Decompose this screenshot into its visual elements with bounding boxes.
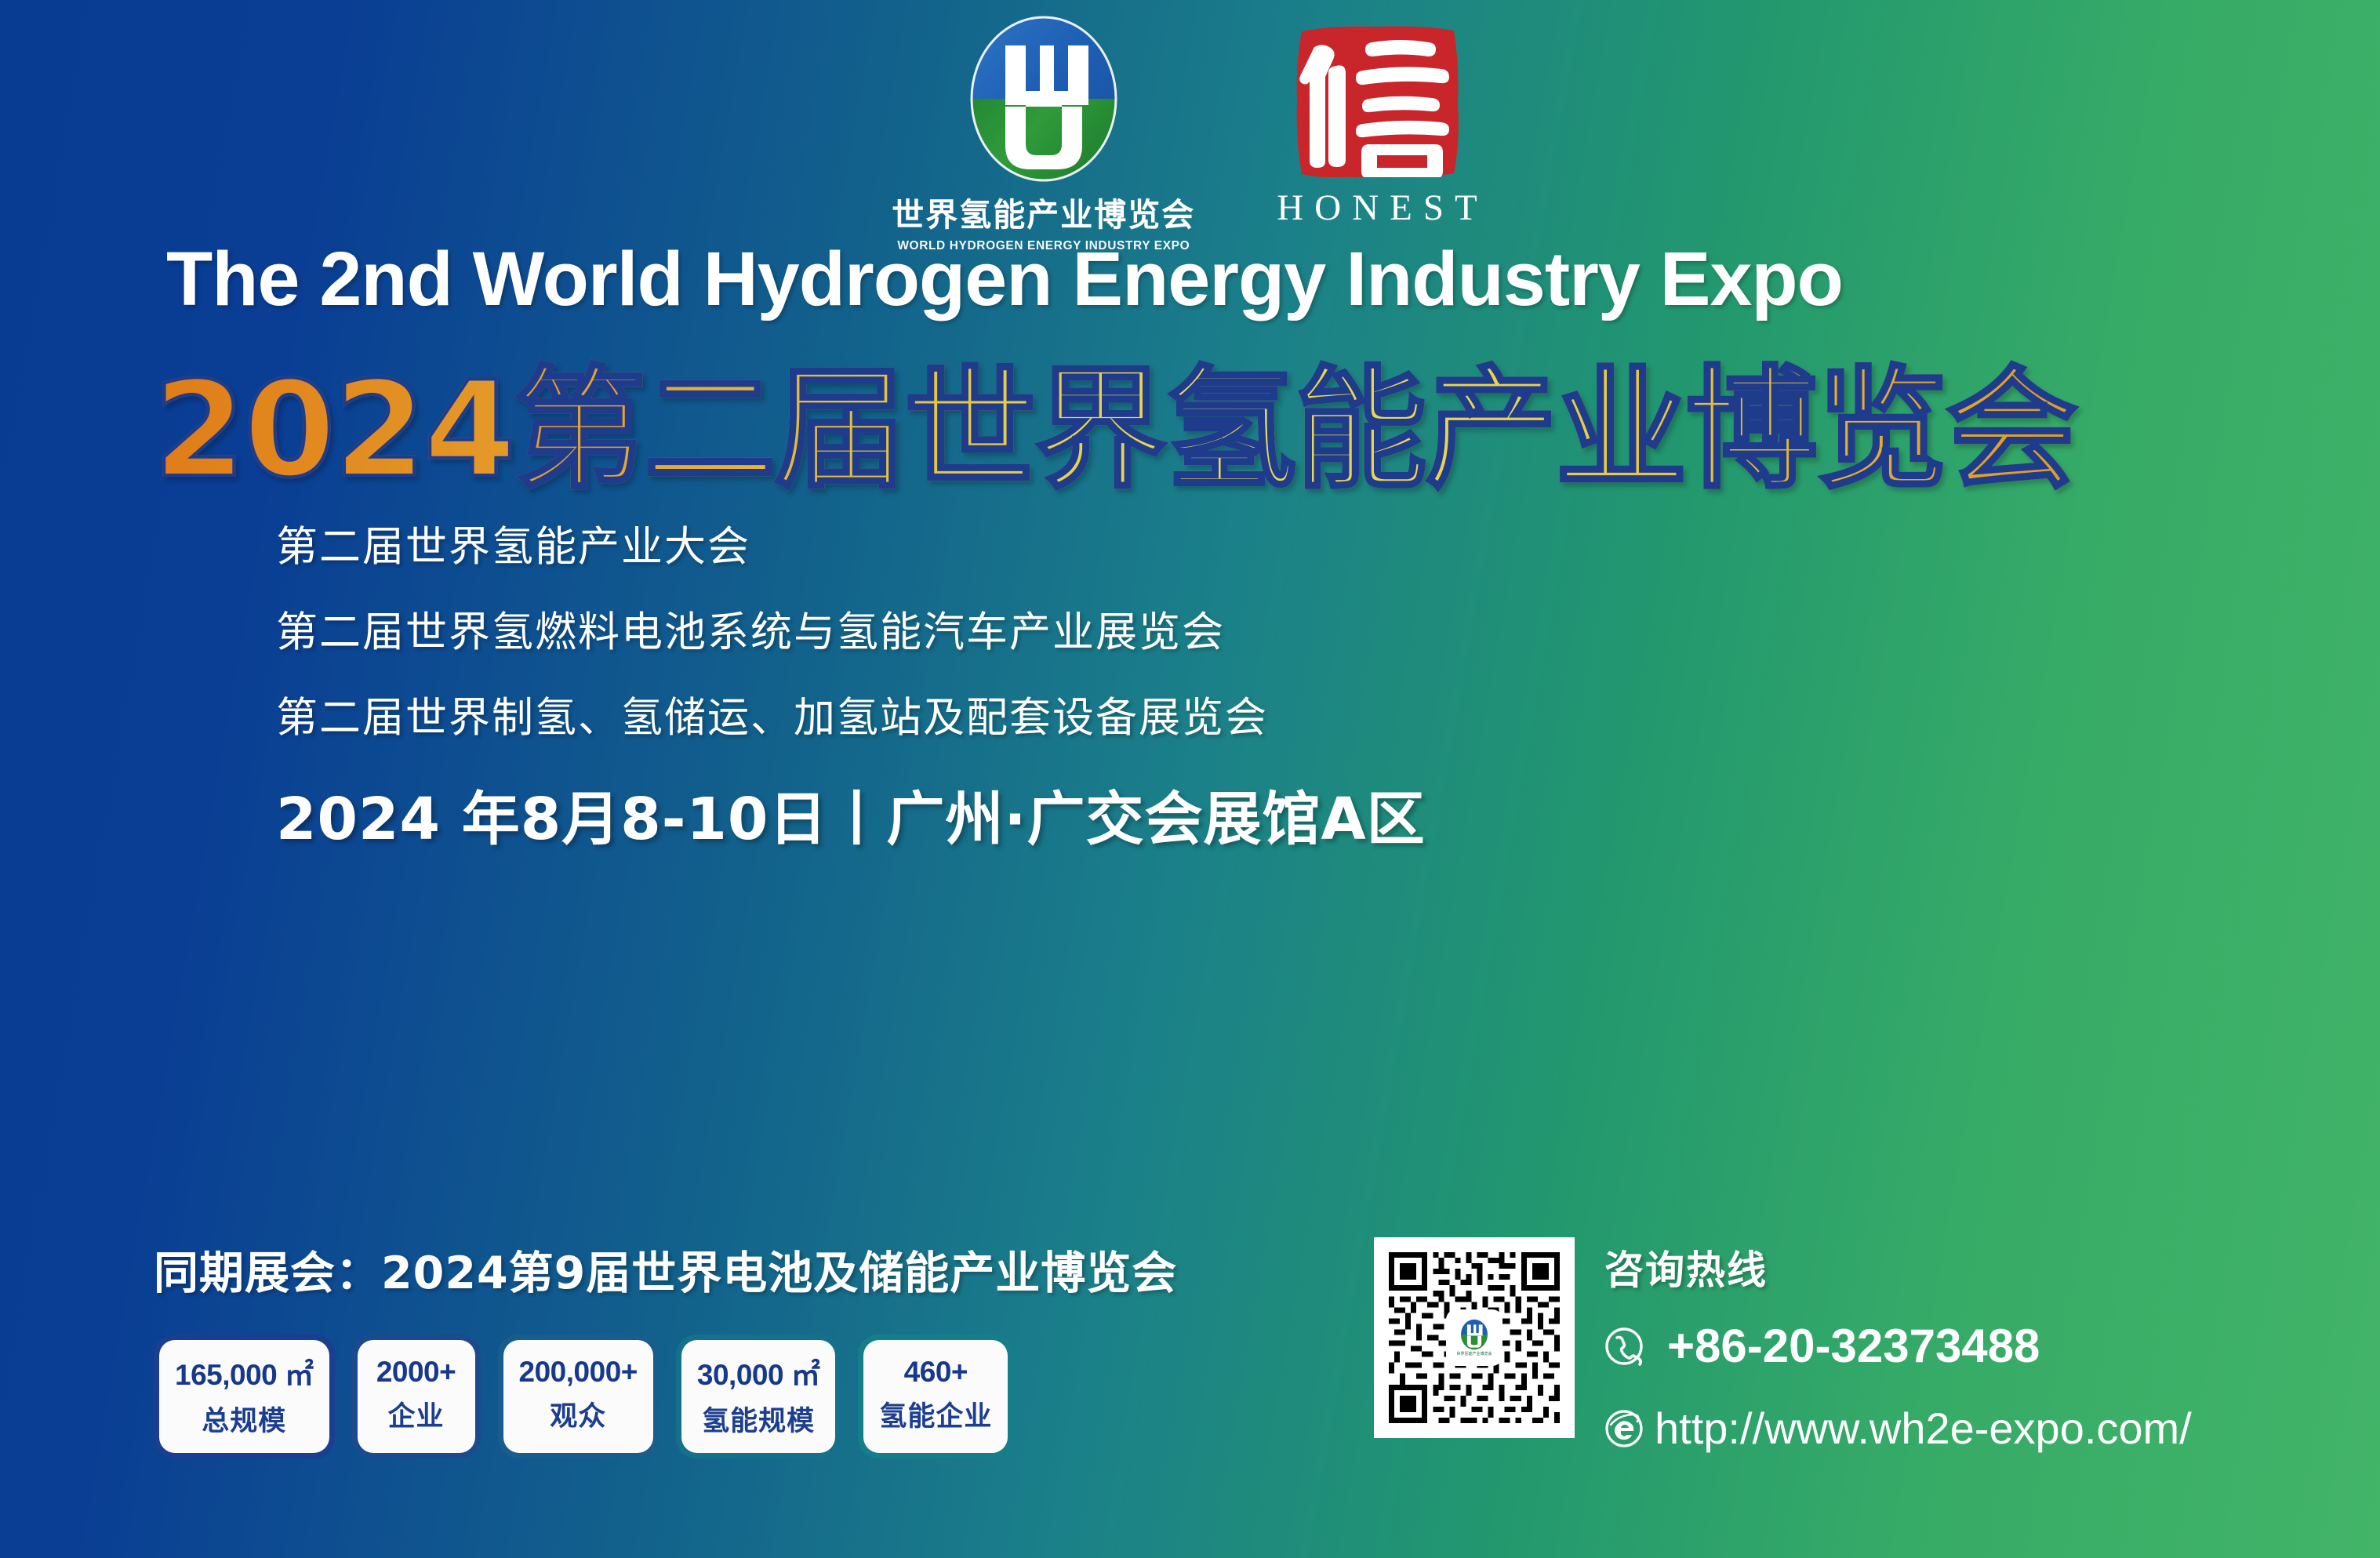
logo-row: 世界氢能产业博览会 WORLD HYDROGEN ENERGY INDUSTRY… xyxy=(0,14,2380,253)
subtitle-line-1: 第二届世界氢能产业大会 xyxy=(276,514,1268,573)
headline-chinese: 2024第二届世界氢能产业博览会 xyxy=(154,323,2271,514)
stat-badge-label: 氢能企业 xyxy=(879,1394,992,1434)
stat-badge: 30,000 ㎡ 氢能规模 xyxy=(676,1335,841,1458)
honest-wordmark-text: HONEST xyxy=(1266,187,1488,229)
phone-circle-icon xyxy=(1604,1327,1644,1366)
stat-badge-label: 总规模 xyxy=(202,1399,286,1439)
stat-badge-value: 165,000 ㎡ xyxy=(175,1351,314,1393)
stat-badge-list: 165,000 ㎡ 总规模 2000+ 企业 200,000+ 观众 30,00… xyxy=(154,1335,1013,1458)
honest-logo: HONEST xyxy=(1266,14,1488,229)
stat-badge-label: 企业 xyxy=(388,1394,445,1434)
concurrent-expo-text: 同期展会：2024第9届世界电池及储能产业博览会 xyxy=(154,1237,1177,1302)
stat-badge: 200,000+ 观众 xyxy=(498,1335,659,1458)
subtitle-line-3: 第二届世界制氢、氢储运、加氢站及配套设备展览会 xyxy=(276,685,1268,744)
qr-center-caption: 世界氢能产业博览会 xyxy=(1456,1351,1492,1356)
stat-badge-value: 200,000+ xyxy=(519,1356,638,1389)
qr-center-logo: 世界氢能产业博览会 xyxy=(1448,1312,1500,1364)
qr-code[interactable]: 世界氢能产业博览会 xyxy=(1374,1237,1575,1438)
contact-phone-number: +86-20-32373488 xyxy=(1667,1319,2040,1373)
internet-explorer-icon xyxy=(1604,1409,1644,1448)
contact-phone-row[interactable]: +86-20-32373488 xyxy=(1604,1319,2192,1373)
expo-logo-cn-text: 世界氢能产业博览会 xyxy=(892,188,1195,235)
stat-badge-label: 氢能规模 xyxy=(702,1399,815,1439)
stat-badge-value: 30,000 ㎡ xyxy=(697,1351,819,1393)
contact-website-url: http://www.wh2e-expo.com/ xyxy=(1655,1403,2192,1454)
subtitle-list: 第二届世界氢能产业大会 第二届世界氢燃料电池系统与氢能汽车产业展览会 第二届世界… xyxy=(276,514,1268,770)
stat-badge: 2000+ 企业 xyxy=(352,1335,481,1458)
contact-website-row[interactable]: http://www.wh2e-expo.com/ xyxy=(1604,1403,2192,1454)
honest-red-seal-icon xyxy=(1291,20,1463,177)
stat-badge-value: 460+ xyxy=(904,1356,968,1389)
contact-block: 咨询热线 +86-20-32373488 http://www.wh2e-exp… xyxy=(1604,1239,2192,1454)
stat-badge: 460+ 氢能企业 xyxy=(858,1335,1013,1458)
subtitle-line-2: 第二届世界氢燃料电池系统与氢能汽车产业展览会 xyxy=(276,599,1268,659)
event-date-venue: 2024 年8月8-10日丨广州·广交会展馆A区 xyxy=(276,772,1426,856)
expo-logo: 世界氢能产业博览会 WORLD HYDROGEN ENERGY INDUSTRY… xyxy=(892,14,1195,253)
stat-badge-value: 2000+ xyxy=(376,1356,456,1389)
stat-badge: 165,000 ㎡ 总规模 xyxy=(154,1335,335,1458)
headline-english: The 2nd World Hydrogen Energy Industry E… xyxy=(166,235,2244,323)
hydrogen-w-oval-logo-icon xyxy=(969,14,1118,183)
hydrogen-w-oval-logo-small-icon xyxy=(1459,1319,1489,1350)
contact-title: 咨询热线 xyxy=(1604,1239,2192,1295)
stat-badge-label: 观众 xyxy=(550,1394,606,1434)
